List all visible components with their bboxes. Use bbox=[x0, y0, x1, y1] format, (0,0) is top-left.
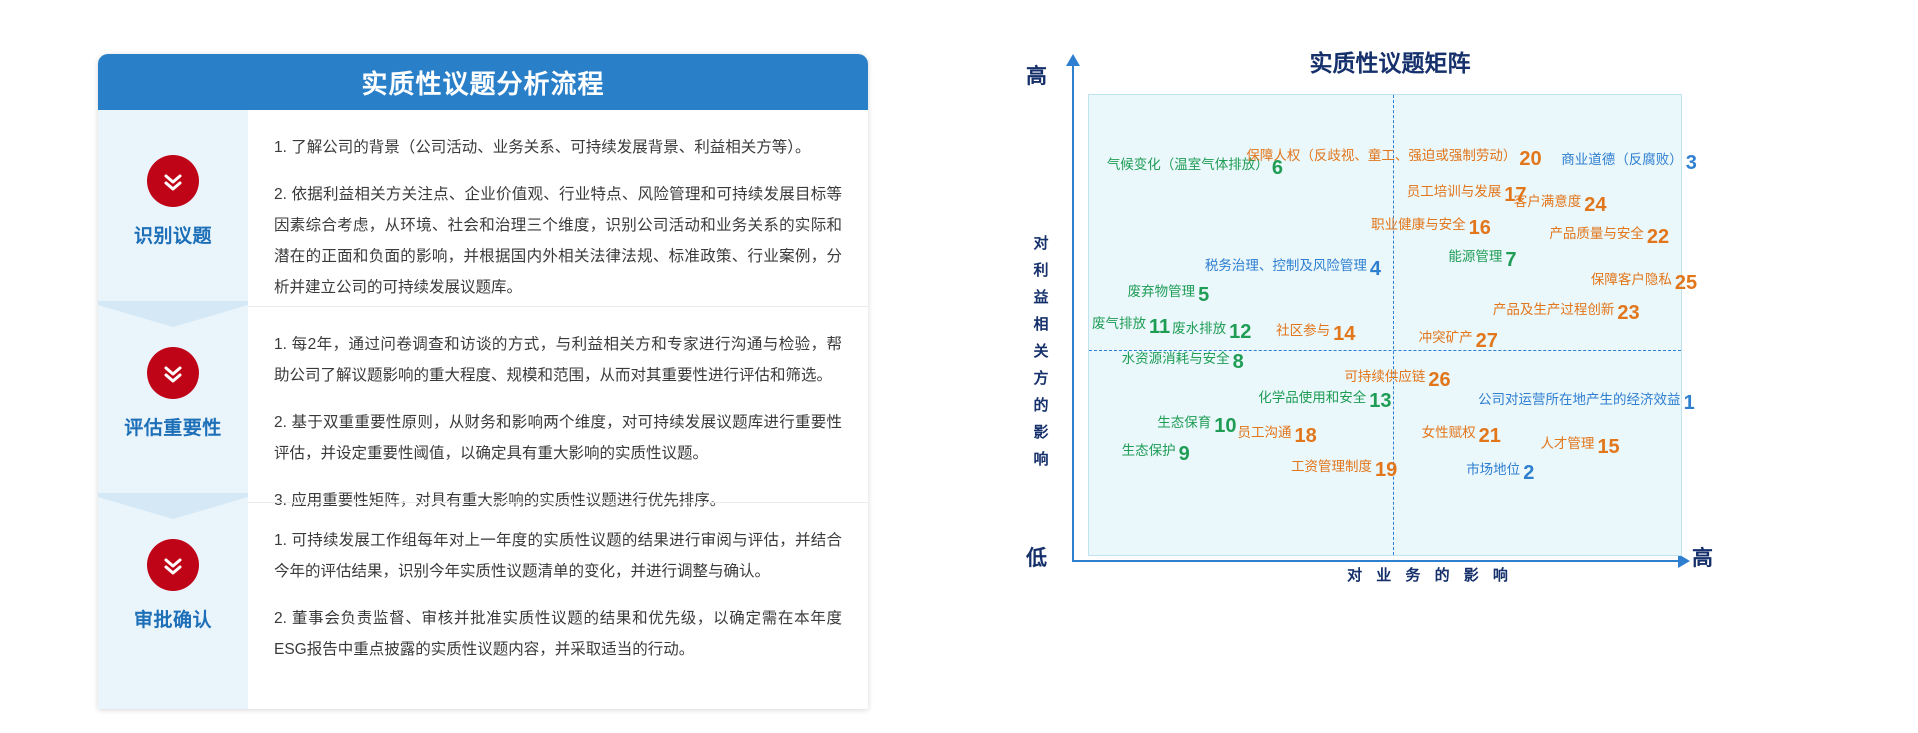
step-assess-content: 1. 每2年，通过问卷调查和访谈的方式，与利益相关方和专家进行沟通与检验，帮助公… bbox=[248, 306, 868, 502]
chart-point: 人才管理15 bbox=[1540, 432, 1619, 459]
stage-label: 评估重要性 bbox=[124, 413, 222, 440]
chart-point-number: 1 bbox=[1684, 392, 1695, 414]
process-header: 实质性议题分析流程 bbox=[98, 54, 868, 110]
chart-point: 保障人权（反歧视、童工、强迫或强制劳动）20 bbox=[1246, 144, 1541, 171]
chart-point: 水资源消耗与安全8 bbox=[1122, 347, 1244, 374]
stage-chevron-divider bbox=[98, 301, 248, 327]
chart-point-label: 产品质量与安全 bbox=[1549, 226, 1644, 241]
chart-point: 冲突矿产27 bbox=[1419, 326, 1498, 353]
step-paragraph: 2. 董事会负责监督、审核并批准实质性议题的结果和优先级，以确定需在本年度ESG… bbox=[274, 603, 842, 665]
double-chevron-down-icon bbox=[147, 539, 199, 591]
chart-point: 产品质量与安全22 bbox=[1549, 222, 1669, 249]
chart-point-number: 24 bbox=[1584, 194, 1606, 216]
chart-point: 废弃物管理5 bbox=[1128, 280, 1210, 307]
chart-point-label: 员工沟通 bbox=[1238, 425, 1292, 440]
y-axis-low-label: 低 bbox=[1026, 542, 1047, 572]
chart-point-number: 13 bbox=[1369, 390, 1391, 412]
chart-point-label: 废气排放 bbox=[1092, 316, 1146, 331]
chart-point-label: 废水排放 bbox=[1172, 321, 1226, 336]
chart-point: 职业健康与安全16 bbox=[1371, 213, 1491, 240]
chart-point-number: 22 bbox=[1647, 226, 1669, 248]
chart-point-number: 10 bbox=[1214, 415, 1236, 437]
y-axis-title: 对利益相关方的影响 bbox=[1028, 230, 1054, 473]
step-paragraph: 1. 了解公司的背景（公司活动、业务关系、可持续发展背景、利益相关方等）。 bbox=[274, 132, 842, 163]
chart-point-number: 20 bbox=[1519, 148, 1541, 170]
chart-point: 女性赋权21 bbox=[1422, 421, 1501, 448]
chart-point-label: 能源管理 bbox=[1448, 249, 1502, 264]
chart-point: 公司对运营所在地产生的经济效益1 bbox=[1478, 388, 1695, 415]
chart-point-number: 7 bbox=[1505, 249, 1516, 271]
chart-point: 市场地位2 bbox=[1466, 458, 1534, 485]
chart-point-label: 产品及生产过程创新 bbox=[1493, 302, 1615, 317]
chart-point-label: 工资管理制度 bbox=[1291, 459, 1372, 474]
step-identify-content: 1. 了解公司的背景（公司活动、业务关系、可持续发展背景、利益相关方等）。 2.… bbox=[248, 110, 868, 306]
chart-point-label: 市场地位 bbox=[1466, 462, 1520, 477]
stage-assess: 评估重要性 bbox=[98, 302, 248, 485]
stage-chevron-divider bbox=[98, 493, 248, 519]
step-approve-content: 1. 可持续发展工作组每年对上一年度的实质性议题的结果进行审阅与评估，并结合今年… bbox=[248, 502, 868, 683]
chart-point: 产品及生产过程创新23 bbox=[1493, 298, 1640, 325]
chart-point-label: 商业道德（反腐败） bbox=[1561, 152, 1683, 167]
chart-point-number: 3 bbox=[1686, 152, 1697, 174]
chart-point-label: 职业健康与安全 bbox=[1371, 217, 1466, 232]
chart-point-number: 16 bbox=[1469, 217, 1491, 239]
chart-point: 员工沟通18 bbox=[1238, 421, 1317, 448]
chart-point: 生态保育10 bbox=[1157, 411, 1236, 438]
stage-identify: 识别议题 bbox=[98, 110, 248, 293]
materiality-process-panel: 实质性议题分析流程 识别议题 bbox=[98, 54, 868, 709]
chart-point-label: 化学品使用和安全 bbox=[1258, 390, 1366, 405]
chart-point: 生态保护9 bbox=[1122, 439, 1190, 466]
chart-point: 员工培训与发展17 bbox=[1407, 180, 1527, 207]
chart-point-number: 27 bbox=[1476, 330, 1498, 352]
chart-point-number: 23 bbox=[1617, 302, 1639, 324]
chart-point-label: 气候变化（温室气体排放） bbox=[1107, 157, 1269, 172]
y-axis-high-label: 高 bbox=[1026, 60, 1047, 90]
stage-rail: 识别议题 评估重要性 bbox=[98, 110, 248, 709]
chart-point-number: 21 bbox=[1479, 425, 1501, 447]
chart-point-number: 5 bbox=[1198, 284, 1209, 306]
chart-point-label: 保障客户隐私 bbox=[1591, 272, 1672, 287]
chart-point-label: 冲突矿产 bbox=[1419, 330, 1473, 345]
x-axis-high-label: 高 bbox=[1692, 542, 1713, 572]
chart-point-label: 保障人权（反歧视、童工、强迫或强制劳动） bbox=[1246, 148, 1516, 163]
chart-point-number: 26 bbox=[1428, 369, 1450, 391]
chart-point-number: 8 bbox=[1233, 351, 1244, 373]
chart-point: 能源管理7 bbox=[1448, 245, 1516, 272]
chart-point: 客户满意度24 bbox=[1514, 190, 1607, 217]
y-axis-line bbox=[1072, 64, 1074, 562]
chart-point-label: 生态保育 bbox=[1157, 415, 1211, 430]
chart-point-label: 生态保护 bbox=[1122, 443, 1176, 458]
stage-label: 识别议题 bbox=[134, 221, 212, 248]
chart-point-number: 4 bbox=[1370, 258, 1381, 280]
process-steps: 1. 了解公司的背景（公司活动、业务关系、可持续发展背景、利益相关方等）。 2.… bbox=[248, 110, 868, 709]
stage-approve: 审批确认 bbox=[98, 494, 248, 677]
step-paragraph: 2. 依据利益相关方关注点、企业价值观、行业特点、风险管理和可持续发展目标等因素… bbox=[274, 179, 842, 303]
chart-point-label: 公司对运营所在地产生的经济效益 bbox=[1478, 392, 1681, 407]
chart-point: 化学品使用和安全13 bbox=[1258, 386, 1391, 413]
chart-point-number: 25 bbox=[1675, 272, 1697, 294]
chart-point-label: 社区参与 bbox=[1276, 323, 1330, 338]
chart-point: 废水排放12 bbox=[1172, 317, 1251, 344]
chart-point: 工资管理制度19 bbox=[1291, 455, 1397, 482]
chart-point-number: 11 bbox=[1149, 316, 1170, 338]
chart-point-number: 15 bbox=[1597, 436, 1619, 458]
chart-point-label: 税务治理、控制及风险管理 bbox=[1205, 258, 1367, 273]
chart-point-label: 可持续供应链 bbox=[1344, 369, 1425, 384]
chart-point: 社区参与14 bbox=[1276, 319, 1355, 346]
chart-point: 废气排放11 bbox=[1092, 312, 1170, 339]
chart-point-label: 水资源消耗与安全 bbox=[1122, 351, 1230, 366]
chart-point-number: 9 bbox=[1179, 443, 1190, 465]
chart-point-number: 19 bbox=[1375, 459, 1397, 481]
chart-point-number: 14 bbox=[1333, 323, 1355, 345]
x-axis-title: 对 业 务 的 影 响 bbox=[1220, 564, 1640, 585]
chart-point-label: 员工培训与发展 bbox=[1407, 184, 1502, 199]
chart-plot-area: 气候变化（温室气体排放）6保障人权（反歧视、童工、强迫或强制劳动）20商业道德（… bbox=[1088, 94, 1682, 556]
step-paragraph: 1. 可持续发展工作组每年对上一年度的实质性议题的结果进行审阅与评估，并结合今年… bbox=[274, 525, 842, 587]
chart-point-label: 人才管理 bbox=[1540, 436, 1594, 451]
step-paragraph: 1. 每2年，通过问卷调查和访谈的方式，与利益相关方和专家进行沟通与检验，帮助公… bbox=[274, 329, 842, 391]
double-chevron-down-icon bbox=[147, 155, 199, 207]
double-chevron-down-icon bbox=[147, 347, 199, 399]
process-title: 实质性议题分析流程 bbox=[361, 64, 604, 101]
step-paragraph: 2. 基于双重重要性原则，从财务和影响两个维度，对可持续发展议题库进行重要性评估… bbox=[274, 407, 842, 469]
x-axis-arrow-icon bbox=[1678, 554, 1690, 568]
chart-point-label: 女性赋权 bbox=[1422, 425, 1476, 440]
chart-point: 商业道德（反腐败）3 bbox=[1561, 148, 1697, 175]
chart-point: 保障客户隐私25 bbox=[1591, 268, 1697, 295]
chart-point-number: 2 bbox=[1523, 462, 1534, 484]
stage-label: 审批确认 bbox=[134, 605, 212, 632]
process-body: 识别议题 评估重要性 bbox=[98, 110, 868, 709]
x-axis-line bbox=[1072, 560, 1680, 562]
materiality-matrix-chart: 实质性议题矩阵 高 低 高 对利益相关方的影响 对 业 务 的 影 响 气候变化… bbox=[880, 30, 1900, 630]
chart-point-number: 12 bbox=[1229, 321, 1251, 343]
chart-point: 税务治理、控制及风险管理4 bbox=[1205, 254, 1381, 281]
chart-point-number: 18 bbox=[1295, 425, 1317, 447]
chart-point-label: 客户满意度 bbox=[1514, 194, 1582, 209]
chart-point-label: 废弃物管理 bbox=[1128, 284, 1196, 299]
